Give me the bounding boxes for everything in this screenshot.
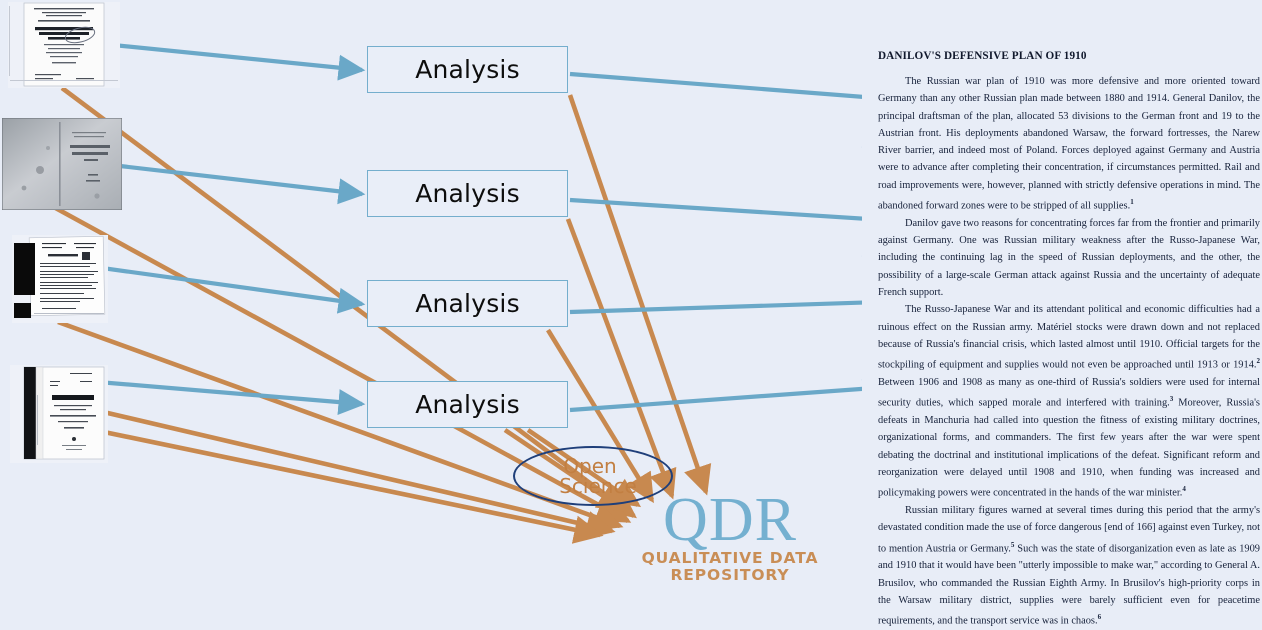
document-title: DANILOV'S DEFENSIVE PLAN OF 1910 <box>878 50 1260 62</box>
qdr-subtitle-line2: REPOSITORY <box>600 567 860 584</box>
qdr-subtitle-line1: QUALITATIVE DATA <box>600 550 860 567</box>
source-doc-2-image <box>2 118 122 210</box>
blue-arrow-src1-an1 <box>113 45 362 70</box>
source-doc-1-image <box>8 2 120 88</box>
analysis-box-1-label: Analysis <box>415 55 520 84</box>
document-paragraph-2-text: Danilov gave two reasons for concentrati… <box>878 218 1260 298</box>
document-text-block: DANILOV'S DEFENSIVE PLAN OF 1910 The Rus… <box>878 50 1260 630</box>
analysis-box-3-label: Analysis <box>415 289 520 318</box>
analysis-box-1[interactable]: Analysis <box>367 46 568 93</box>
document-paragraph-3-rest2: Moreover, Russia's defeats in Manchuria … <box>878 398 1260 499</box>
footnote-marker-4: 4 <box>1182 485 1186 493</box>
footnote-marker-6: 6 <box>1098 613 1102 621</box>
qdr-logo[interactable]: QDR QUALITATIVE DATA REPOSITORY <box>600 492 860 584</box>
document-paragraph-2: Danilov gave two reasons for concentrati… <box>878 215 1260 301</box>
document-page: DANILOV'S DEFENSIVE PLAN OF 1910 The Rus… <box>862 0 1262 580</box>
analysis-box-3[interactable]: Analysis <box>367 280 568 327</box>
source-doc-3-image <box>12 235 108 323</box>
footnote-marker-2: 2 <box>1257 357 1261 365</box>
source-doc-1[interactable] <box>8 2 120 88</box>
orange-arrow-an1-qdr <box>570 95 706 492</box>
document-paragraph-4-rest: Such was the state of disorganization ev… <box>878 543 1260 627</box>
analysis-box-2[interactable]: Analysis <box>367 170 568 217</box>
source-doc-2[interactable] <box>2 118 122 210</box>
footnote-marker-3: 3 <box>1170 395 1174 403</box>
blue-arrow-src3-an3 <box>95 267 362 304</box>
open-science-line1: Open <box>563 456 616 476</box>
document-paragraph-3-text: The Russo-Japanese War and its attendant… <box>878 304 1260 370</box>
document-paragraph-4: Russian military figures warned at sever… <box>878 502 1260 630</box>
footnote-marker-5: 5 <box>1011 541 1015 549</box>
qdr-wordmark: QDR <box>600 492 860 549</box>
blue-arrow-group-in <box>95 45 362 404</box>
diagram-canvas: Analysis Analysis Analysis Analysis Open… <box>0 0 1262 580</box>
document-paragraph-1: The Russian war plan of 1910 was more de… <box>878 73 1260 215</box>
analysis-box-4[interactable]: Analysis <box>367 381 568 428</box>
blue-arrow-src2-an2 <box>120 166 362 194</box>
analysis-box-4-label: Analysis <box>415 390 520 419</box>
document-paragraph-3: The Russo-Japanese War and its attendant… <box>878 301 1260 502</box>
document-paragraph-1-text: The Russian war plan of 1910 was more de… <box>878 76 1260 212</box>
source-doc-3[interactable] <box>12 235 108 323</box>
blue-arrow-src4-an4 <box>98 382 362 404</box>
source-doc-4[interactable] <box>10 365 108 463</box>
analysis-box-2-label: Analysis <box>415 179 520 208</box>
footnote-marker-1: 1 <box>1130 198 1134 206</box>
source-doc-4-image <box>10 365 108 463</box>
qdr-subtitle: QUALITATIVE DATA REPOSITORY <box>600 550 860 583</box>
